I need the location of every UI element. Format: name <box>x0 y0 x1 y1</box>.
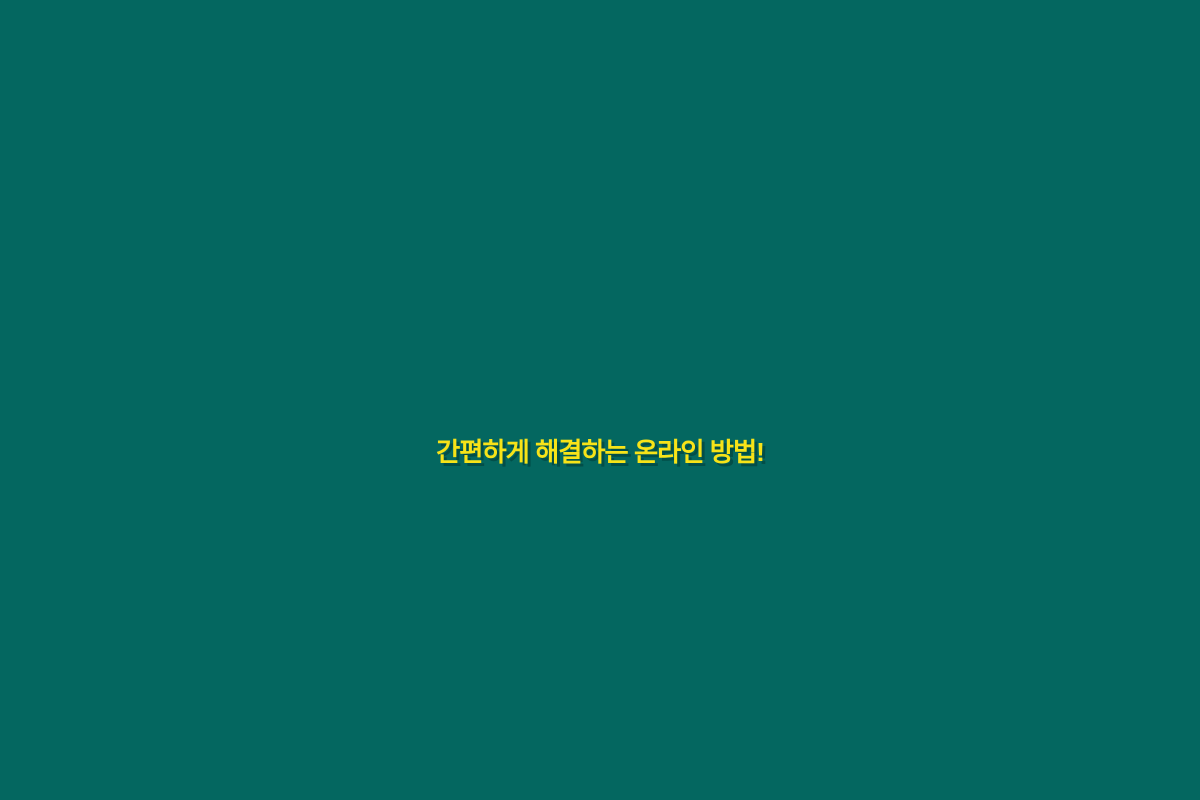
headline-line-2: 간편하게 해결하는 온라인 방법! <box>0 397 1200 507</box>
headline-block: 육아휴직 신청, 5분 안에 간편하게 해결하는 온라인 방법! <box>0 287 1200 507</box>
headline-line-1: 육아휴직 신청, 5분 안에 <box>0 287 1200 397</box>
thumbnail-banner: 육아휴직 신청, 5분 안에 간편하게 해결하는 온라인 방법! <box>0 0 1200 800</box>
